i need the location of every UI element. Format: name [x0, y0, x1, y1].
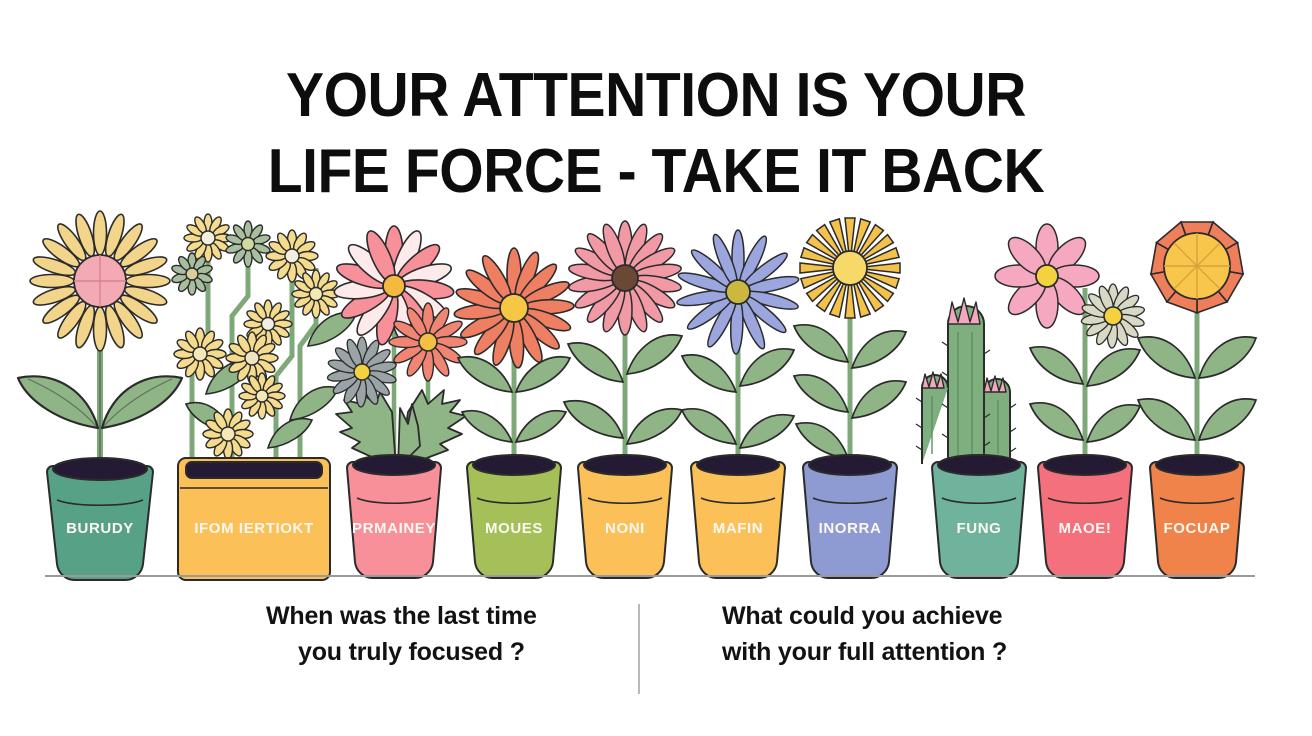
plant-4-foliage: [454, 248, 575, 466]
pot-6-label: MAFIN: [713, 520, 764, 537]
plant-2-foliage: [171, 214, 356, 464]
plant-10: FOCUAP: [1138, 222, 1256, 578]
pot-2-label: IFOM IERTIOKT: [194, 520, 313, 537]
plant-5-flower: [568, 221, 683, 335]
prompt-right-line-2: with your full attention ?: [722, 634, 1007, 670]
plant-9-foliage: [995, 224, 1145, 466]
pot-5-label: NONI: [605, 520, 645, 537]
plant-4-flower: [454, 248, 575, 368]
plant-3: PRMAINEY: [327, 226, 467, 578]
pot-3[interactable]: PRMAINEY: [347, 455, 441, 578]
plant-10-foliage: [1138, 222, 1256, 466]
prompt-left-line-1: When was the last time: [266, 598, 537, 634]
plant-7-flower: [800, 218, 900, 318]
plants-illustration: BURUDY: [0, 196, 1312, 596]
plant-8: FUNG: [916, 298, 1026, 578]
page-title: YOUR ATTENTION IS YOUR LIFE FORCE - TAKE…: [52, 58, 1259, 210]
pot-10[interactable]: FOCUAP: [1150, 455, 1244, 578]
plant-5-foliage: [564, 221, 682, 466]
pot-6[interactable]: MAFIN: [691, 455, 785, 578]
prompt-right-line-1: What could you achieve: [722, 598, 1007, 634]
pot-7-label: INORRA: [819, 520, 882, 537]
pot-3-label: PRMAINEY: [352, 520, 436, 537]
plant-3-foliage: [327, 226, 467, 468]
plant-2: IFOM IERTIOKT: [171, 214, 356, 580]
prompt-left-line-2: you truly focused ?: [298, 634, 537, 670]
pot-5[interactable]: NONI: [578, 455, 672, 578]
poster-canvas: YOUR ATTENTION IS YOUR LIFE FORCE - TAKE…: [0, 0, 1312, 736]
plant-7: INORRA: [794, 218, 906, 578]
plant-1-flower: [30, 211, 170, 351]
plant-6-flower: [676, 230, 800, 354]
plant-3-flower-grey: [327, 337, 398, 407]
prompt-left: When was the last time you truly focused…: [266, 598, 537, 670]
plant-1-foliage: [18, 211, 182, 486]
pot-9-label: MAOE!: [1059, 520, 1112, 537]
reflection-prompts: When was the last time you truly focused…: [0, 598, 1312, 708]
pot-10-label: FOCUAP: [1164, 520, 1231, 537]
plant-9-flower-small: [1081, 284, 1146, 348]
pot-9[interactable]: MAOE!: [1038, 455, 1132, 578]
pot-1-label: BURUDY: [66, 520, 134, 537]
pot-2[interactable]: IFOM IERTIOKT: [178, 458, 330, 580]
headline-line-1: YOUR ATTENTION IS YOUR: [286, 61, 1026, 130]
pot-4-label: MOUES: [485, 520, 543, 537]
plant-5: NONI: [564, 221, 682, 578]
plant-9-flower-main: [995, 224, 1099, 328]
pot-7[interactable]: INORRA: [803, 455, 897, 578]
pot-8-label: FUNG: [957, 520, 1002, 537]
plant-4: MOUES: [454, 248, 575, 578]
pot-8[interactable]: FUNG: [932, 455, 1026, 578]
pot-1[interactable]: BURUDY: [47, 458, 153, 580]
plant-6: MAFIN: [676, 230, 800, 578]
plant-8-cactus: [916, 298, 1016, 464]
pot-4[interactable]: MOUES: [467, 455, 561, 578]
plant-7-foliage: [794, 218, 906, 466]
prompt-right: What could you achieve with your full at…: [722, 598, 1007, 670]
plant-1: BURUDY: [18, 211, 182, 580]
plant-6-foliage: [676, 230, 800, 466]
plant-10-flower: [1151, 222, 1243, 313]
